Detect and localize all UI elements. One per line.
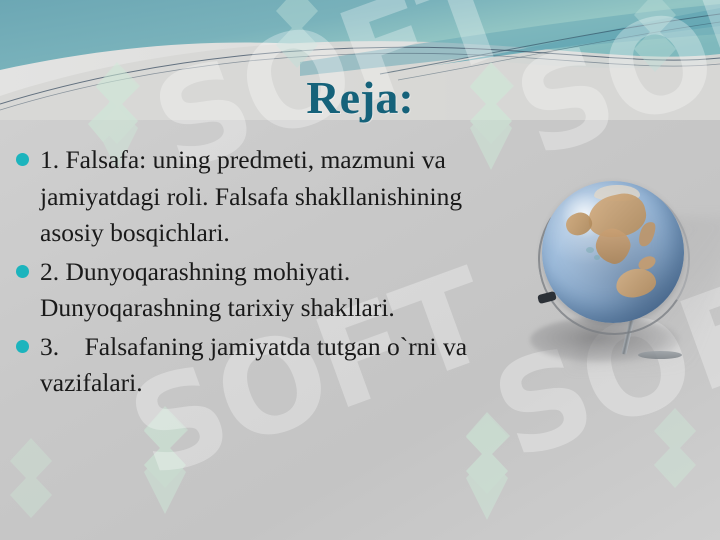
page-title: Reja: (0, 72, 720, 124)
landmass (594, 255, 600, 260)
list-item: 3. Falsafaning jamiyatda tutgan o`rni va… (14, 329, 526, 402)
bullet-list: 1. Falsafa: uning predmeti, mazmuni va j… (14, 142, 526, 404)
list-item-text: 3. Falsafaning jamiyatda tutgan o`rni va… (40, 332, 467, 398)
bullet-dot-icon (16, 340, 29, 353)
presentation-slide: SOFT SOFT SOFT SOFT Reja: 1. Falsafa: un (0, 0, 720, 540)
list-item: 2. Dunyoqarashning mohiyati. Dunyoqarash… (14, 254, 526, 327)
list-item-text: 2. Dunyoqarashning mohiyati. Dunyoqarash… (40, 257, 395, 323)
list-item: 1. Falsafa: uning predmeti, mazmuni va j… (14, 142, 526, 252)
landmass (586, 247, 594, 253)
list-item-text: 1. Falsafa: uning predmeti, mazmuni va j… (40, 145, 462, 247)
bullet-dot-icon (16, 153, 29, 166)
globe-stand-foot (638, 351, 682, 359)
landmass (614, 266, 658, 299)
globe-sphere (542, 181, 684, 323)
globe-image (520, 175, 715, 415)
bullet-dot-icon (16, 265, 29, 278)
